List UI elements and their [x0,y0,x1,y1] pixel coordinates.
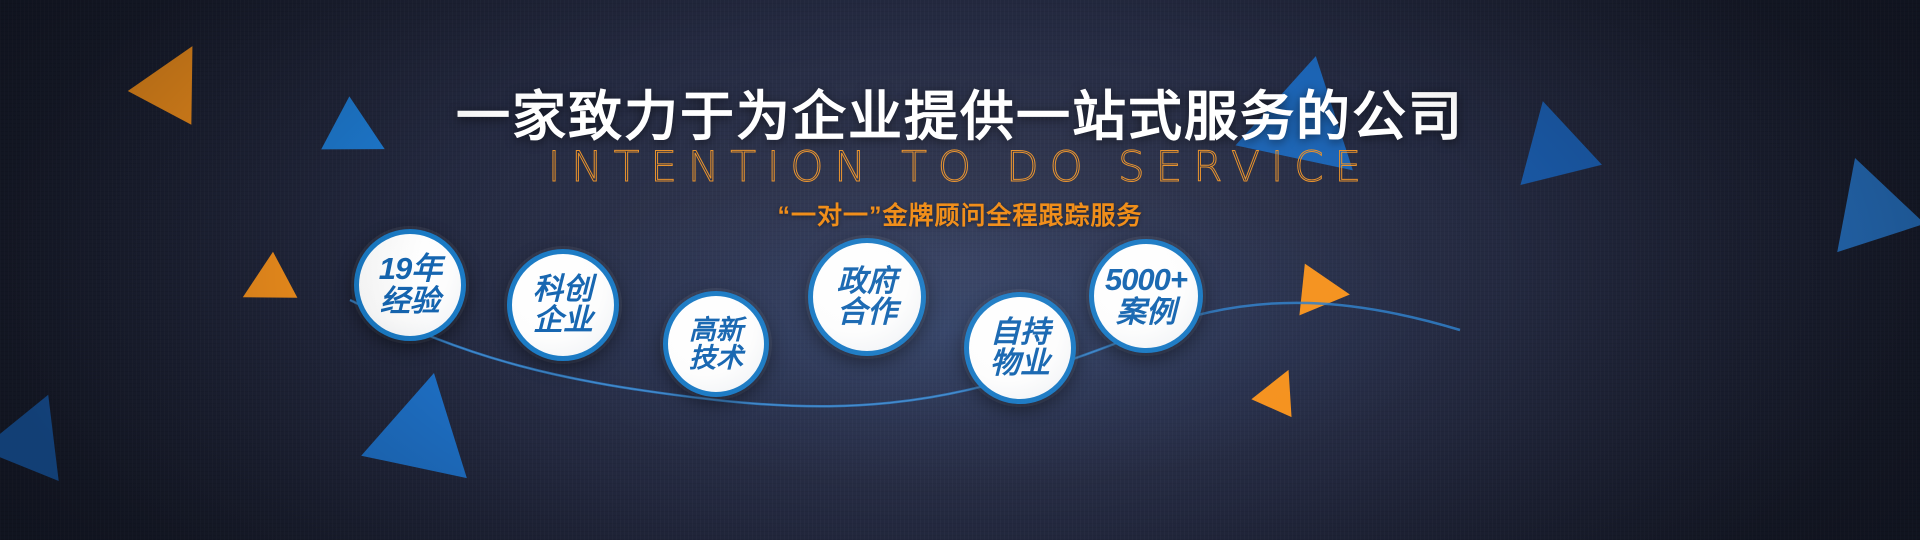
badge-line1: 19年 [379,253,441,285]
badge-line1: 政府 [837,266,897,297]
badge-line2: 合作 [837,297,897,328]
badge-tech-innovation[interactable]: 科创企业 [507,249,619,361]
badge-line2: 企业 [533,305,593,336]
badge-line1: 科创 [533,274,593,305]
badge-government-cooperation[interactable]: 政府合作 [808,238,926,356]
badge-group: 19年经验科创企业高新技术政府合作自持物业5000+案例 [0,0,1920,540]
badge-line1: 自持 [990,317,1050,348]
badge-self-owned-property[interactable]: 自持物业 [964,292,1076,404]
badge-line1: 高新 [689,316,743,344]
promo-banner: 一家致力于为企业提供一站式服务的公司 INTENTION TO DO SERVI… [0,0,1920,540]
badge-line2: 技术 [689,344,743,372]
badge-cases[interactable]: 5000+案例 [1089,239,1203,353]
badge-line2: 案例 [1116,297,1176,328]
badge-high-tech[interactable]: 高新技术 [663,291,769,397]
badge-line2: 经验 [380,286,440,317]
badge-line1: 5000+ [1105,264,1187,296]
badge-experience[interactable]: 19年经验 [354,229,466,341]
badge-line2: 物业 [990,348,1050,379]
